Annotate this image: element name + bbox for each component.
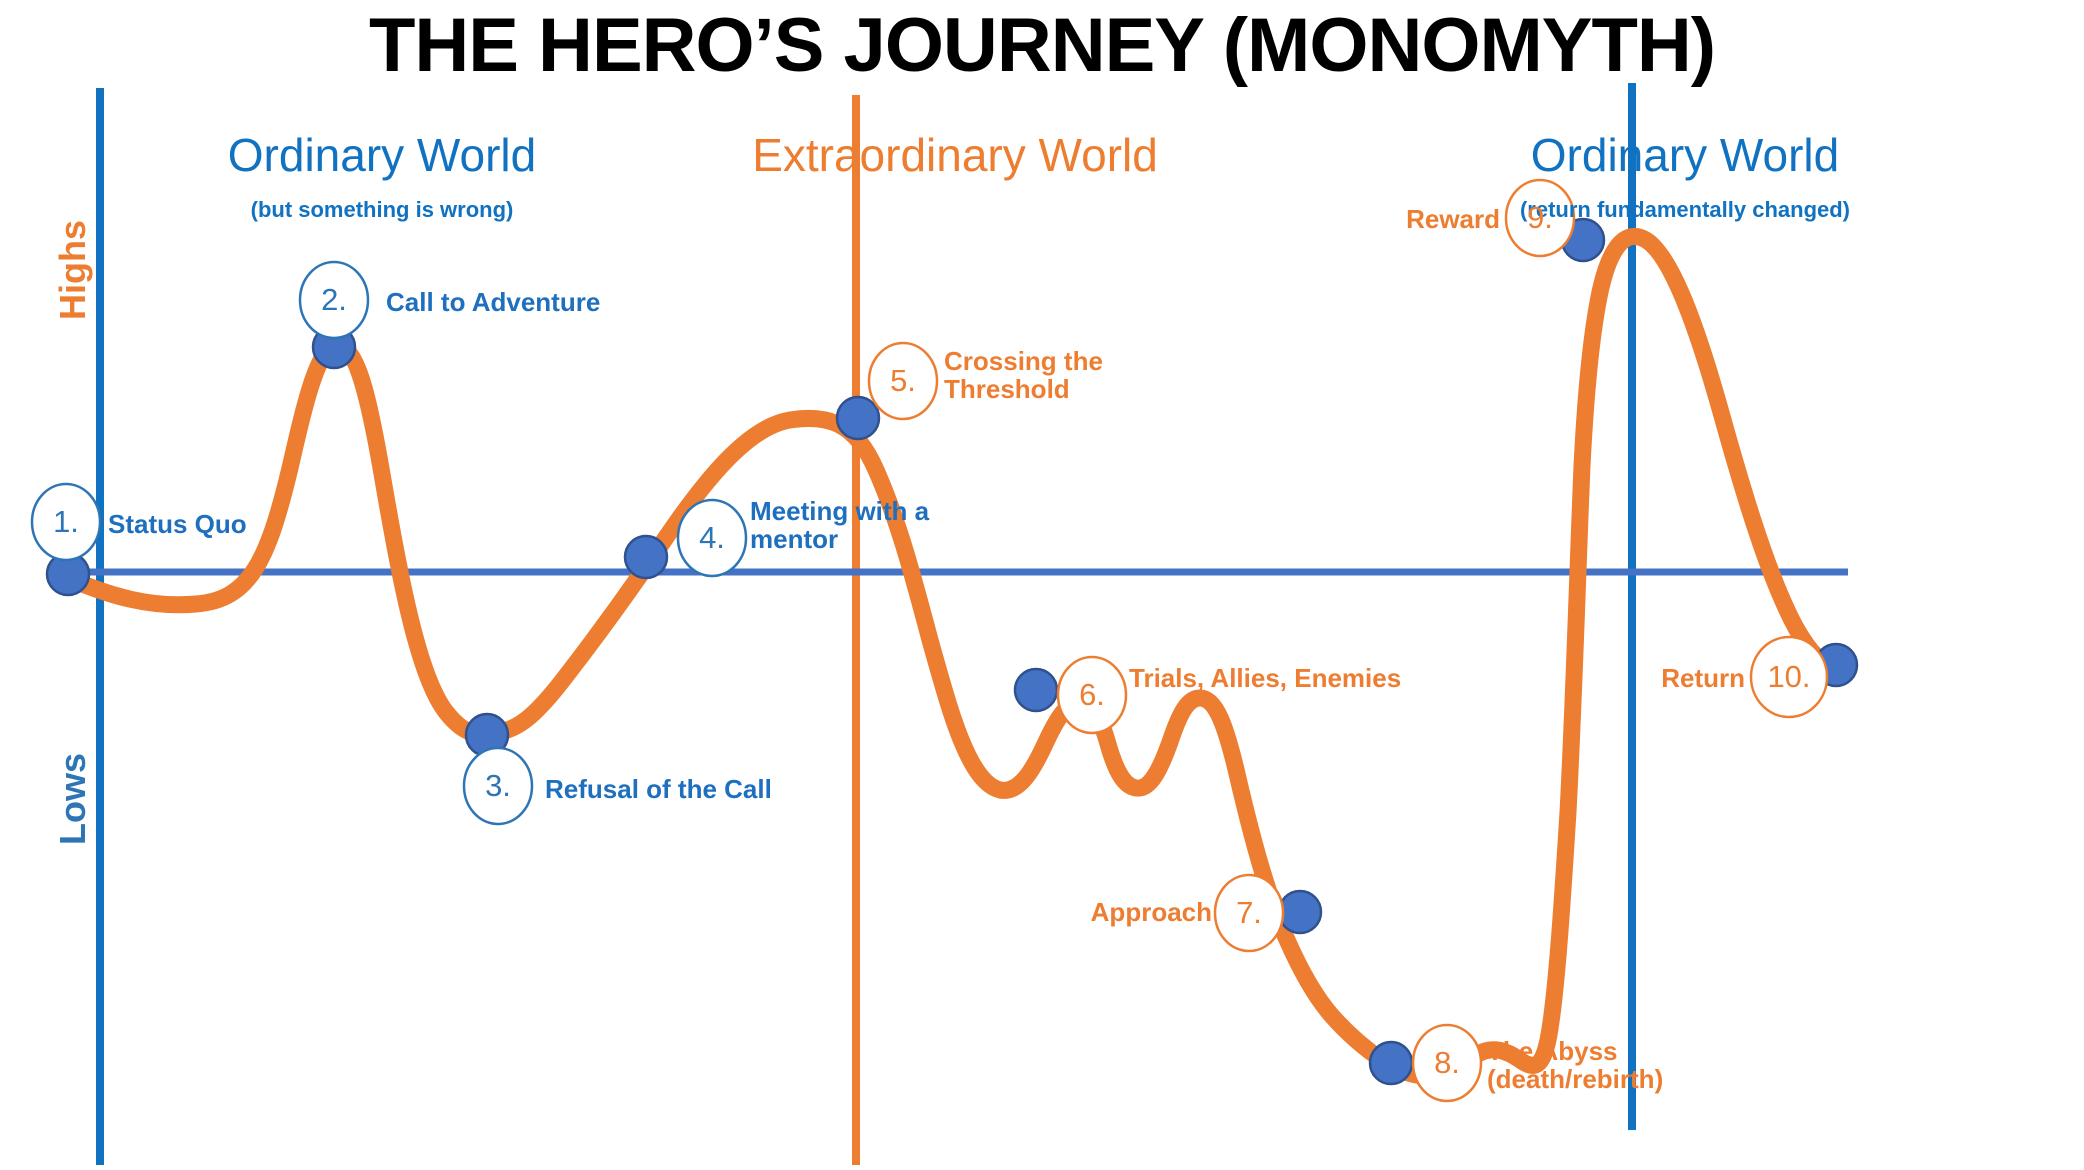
- step-number-text: 5.: [869, 343, 937, 419]
- step-label-line: Threshold: [944, 375, 1103, 403]
- step-label: Approach: [0, 898, 1212, 926]
- journey-point-dot[interactable]: [625, 536, 667, 578]
- step-label: Return: [0, 664, 1745, 692]
- step-label: Crossing theThreshold: [944, 347, 1103, 403]
- step-number-text: 1.: [32, 484, 100, 560]
- step-number-text: 3.: [464, 748, 532, 824]
- step-number-text: 10.: [1751, 637, 1827, 717]
- step-label: Meeting with amentor: [750, 497, 929, 553]
- step-label: Status Quo: [108, 510, 247, 538]
- journey-point-dot[interactable]: [1370, 1042, 1412, 1084]
- step-number-text: 8.: [1413, 1025, 1481, 1101]
- step-label-line: Approach: [0, 898, 1212, 926]
- step-label-line: Return: [0, 664, 1745, 692]
- step-label: The Abyss(death/rebirth): [1487, 1037, 1663, 1093]
- axis-label-highs: Highs: [52, 220, 94, 320]
- step-label-line: Refusal of the Call: [545, 775, 772, 803]
- step-label-line: Call to Adventure: [386, 288, 600, 316]
- step-number-text: 4.: [678, 500, 746, 576]
- section-title-2: Extraordinary World: [752, 128, 1158, 182]
- step-label-line: The Abyss: [1487, 1037, 1663, 1065]
- monomyth-diagram: THE HERO’S JOURNEY (MONOMYTH) HighsLows …: [0, 0, 2084, 1170]
- step-number-text: 2.: [300, 262, 368, 338]
- step-number-text: 6.: [1058, 657, 1126, 733]
- journey-point-dot[interactable]: [1279, 891, 1321, 933]
- step-number-text: 9.: [1506, 180, 1574, 256]
- step-label: Refusal of the Call: [545, 775, 772, 803]
- step-label-line: (death/rebirth): [1487, 1065, 1663, 1093]
- step-label-line: Reward: [0, 205, 1500, 233]
- step-label-line: Crossing the: [944, 347, 1103, 375]
- step-label: Reward: [0, 205, 1500, 233]
- step-number-text: 7.: [1215, 875, 1283, 951]
- step-label-line: Status Quo: [108, 510, 247, 538]
- step-label-line: mentor: [750, 525, 929, 553]
- step-label-line: Meeting with a: [750, 497, 929, 525]
- section-title-3: Ordinary World: [1531, 128, 1839, 182]
- step-label: Call to Adventure: [386, 288, 600, 316]
- section-title-1: Ordinary World: [228, 128, 536, 182]
- axis-label-lows: Lows: [52, 753, 94, 845]
